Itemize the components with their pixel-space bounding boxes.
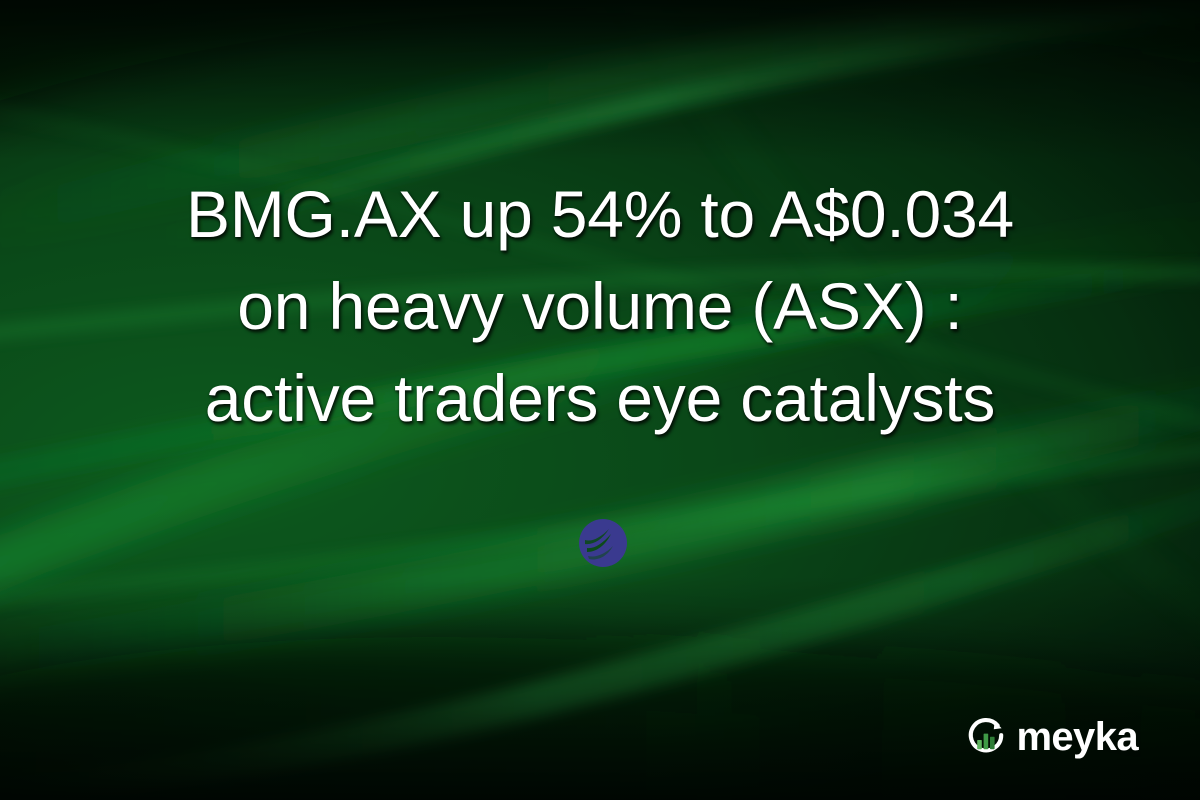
headline: BMG.AX up 54% to A$0.034 on heavy volume… (0, 168, 1200, 444)
brand-lockup: meyka (964, 716, 1138, 760)
meyka-logo-icon (964, 716, 1008, 760)
orb-logo-icon (578, 518, 628, 568)
news-share-card: BMG.AX up 54% to A$0.034 on heavy volume… (0, 0, 1200, 800)
headline-line-2: on heavy volume (ASX) : (0, 260, 1200, 352)
headline-line-1: BMG.AX up 54% to A$0.034 (0, 168, 1200, 260)
meyka-wordmark: meyka (1016, 717, 1138, 757)
headline-line-3: active traders eye catalysts (0, 352, 1200, 444)
